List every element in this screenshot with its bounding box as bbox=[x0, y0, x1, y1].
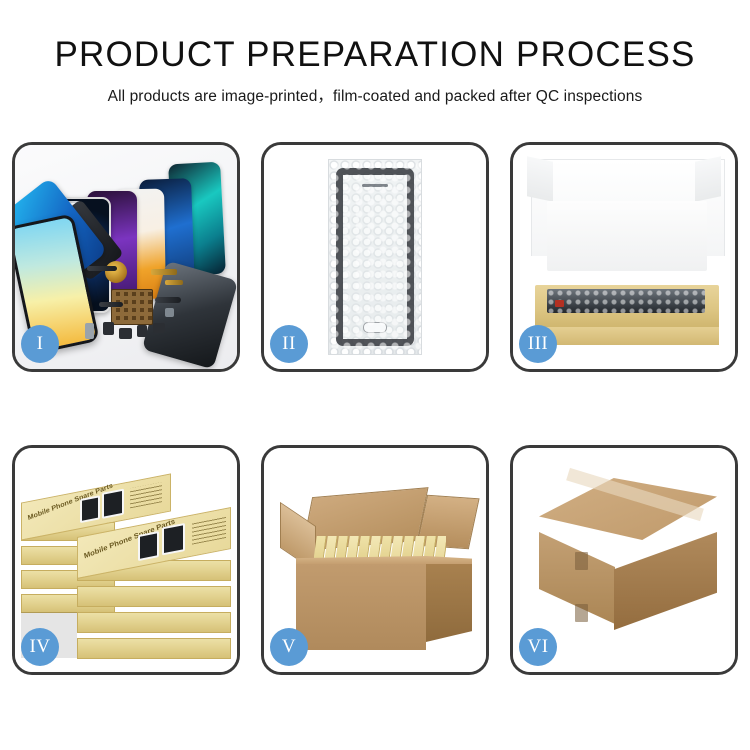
box-lid-flap-right bbox=[695, 156, 721, 202]
flex-cable-3 bbox=[155, 297, 181, 303]
box-product-image-rear-2 bbox=[102, 489, 124, 519]
box-spec-lines-front bbox=[192, 516, 226, 545]
stacked-box-front-4 bbox=[77, 638, 231, 659]
step-panel-2: II bbox=[261, 142, 489, 372]
step-badge-6: VI bbox=[519, 628, 557, 666]
flex-cable-1 bbox=[87, 266, 117, 271]
earpiece-slot bbox=[362, 184, 388, 187]
box-product-image-front-2 bbox=[162, 523, 185, 555]
page-title: PRODUCT PREPARATION PROCESS bbox=[0, 36, 750, 75]
screen-assembly-outline bbox=[336, 168, 414, 346]
page-subtitle: All products are image-printed，film-coat… bbox=[0, 84, 750, 106]
step-panel-4: Mobile Phone Spare Parts Mobile Phone Sp… bbox=[12, 445, 240, 675]
carton-front-wall bbox=[296, 564, 426, 650]
step-badge-3: III bbox=[519, 325, 557, 363]
small-part-3 bbox=[137, 325, 147, 337]
process-step-grid: I II bbox=[12, 142, 738, 675]
box-product-image-front-1 bbox=[138, 531, 159, 561]
sealed-carton-right-face bbox=[614, 532, 717, 630]
box-spec-lines-rear bbox=[130, 482, 162, 508]
step-badge-5: V bbox=[270, 628, 308, 666]
foam-insert bbox=[547, 201, 707, 271]
flex-cable-2 bbox=[99, 302, 123, 307]
step-panel-3: III bbox=[510, 142, 738, 372]
stacked-box-front-3 bbox=[77, 612, 231, 633]
gold-contact-strip-2 bbox=[165, 280, 183, 285]
step-badge-1: I bbox=[21, 325, 59, 363]
battery-connector bbox=[85, 323, 94, 339]
step-badge-2: II bbox=[270, 325, 308, 363]
red-label-mark bbox=[555, 300, 564, 307]
wrapped-screen-in-box bbox=[547, 289, 705, 313]
kraft-box-front-wall bbox=[535, 327, 719, 345]
bubble-wrap-sheet bbox=[328, 159, 422, 355]
step-panel-6: VI bbox=[510, 445, 738, 675]
home-button bbox=[363, 322, 387, 333]
small-part-4 bbox=[153, 323, 165, 333]
screw-tray bbox=[111, 289, 153, 325]
step-panel-5: V bbox=[261, 445, 489, 675]
carton-side-wall bbox=[426, 564, 472, 642]
carton-tab-upper bbox=[575, 552, 588, 570]
product-preparation-infographic: PRODUCT PREPARATION PROCESS All products… bbox=[0, 0, 750, 750]
box-lid-flap-left bbox=[527, 156, 553, 202]
speaker-module bbox=[105, 261, 127, 283]
carton-tab-lower bbox=[575, 604, 588, 622]
small-part-1 bbox=[103, 322, 114, 335]
small-part-2 bbox=[119, 328, 132, 339]
gold-contact-strip bbox=[151, 269, 177, 275]
step-badge-4: IV bbox=[21, 628, 59, 666]
camera-module bbox=[165, 308, 174, 317]
step-panel-1: I bbox=[12, 142, 240, 372]
box-brand-label-rear: Mobile Phone Spare Parts bbox=[27, 482, 113, 522]
stacked-box-front-2 bbox=[77, 586, 231, 607]
box-product-image-rear-1 bbox=[80, 495, 100, 523]
header: PRODUCT PREPARATION PROCESS All products… bbox=[0, 0, 750, 106]
